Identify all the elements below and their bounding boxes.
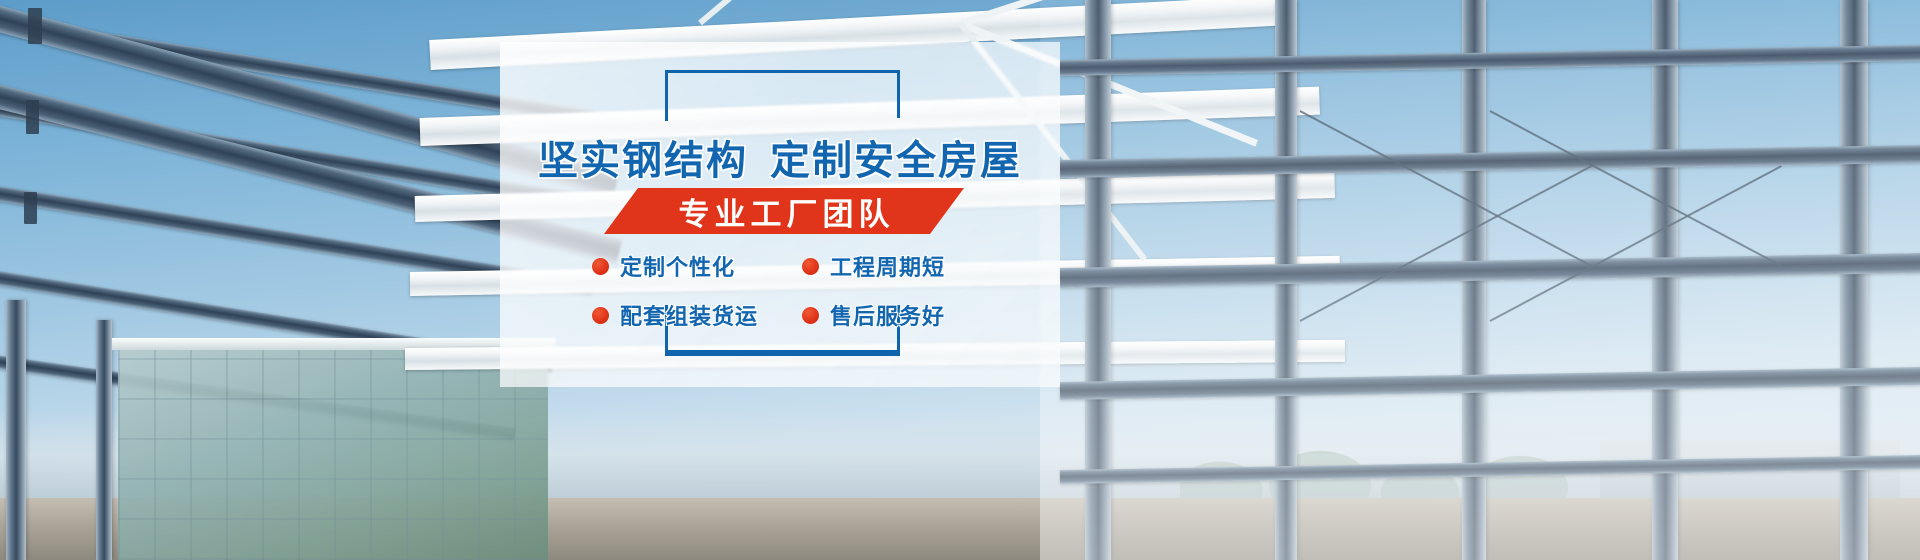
bullet-dot-icon (802, 258, 819, 275)
list-item: 工程周期短 (802, 250, 992, 282)
steel-column (6, 300, 26, 560)
feature-label: 配套组装货运 (620, 299, 758, 331)
list-item: 售后服务好 (802, 299, 992, 331)
bolt-plate (26, 100, 39, 134)
banner-content: 坚实钢结构定制安全房屋 专业工厂团队 定制个性化 工程周期短 配套组装货运 售后… (500, 42, 1060, 387)
bolt-plate (24, 192, 37, 224)
bullet-dot-icon (592, 258, 609, 275)
bullet-dot-icon (592, 307, 609, 324)
feature-label: 定制个性化 (620, 250, 735, 282)
bolt-plate (28, 8, 42, 44)
ribbon-label: 专业工厂团队 (604, 188, 964, 234)
page-title: 坚实钢结构定制安全房屋 (500, 128, 1060, 186)
list-item: 配套组装货运 (592, 299, 802, 331)
headline-part-2: 定制安全房屋 (770, 138, 1022, 184)
subtitle-ribbon: 专业工厂团队 (604, 188, 964, 234)
feature-list: 定制个性化 工程周期短 配套组装货运 售后服务好 (592, 250, 992, 331)
steel-column (96, 320, 112, 560)
list-item: 定制个性化 (592, 250, 802, 282)
wall-glazing-panel (118, 345, 548, 560)
feature-label: 工程周期短 (830, 250, 945, 282)
bullet-dot-icon (802, 307, 819, 324)
headline-part-1: 坚实钢结构 (538, 138, 748, 184)
hero-banner: 坚实钢结构定制安全房屋 专业工厂团队 定制个性化 工程周期短 配套组装货运 售后… (0, 0, 1920, 560)
photo-haze (1040, 0, 1920, 560)
feature-label: 售后服务好 (830, 299, 945, 331)
